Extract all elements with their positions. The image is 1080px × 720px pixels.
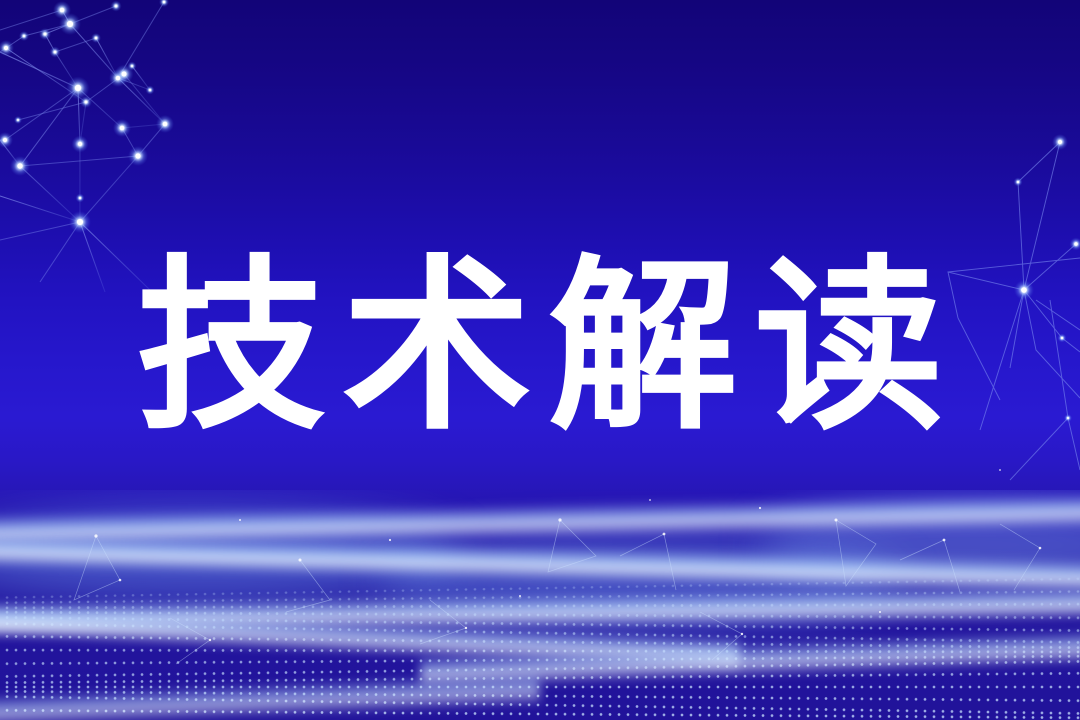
page-title: 技术解读	[0, 250, 1080, 446]
particle-wave-field	[0, 490, 1080, 720]
banner-canvas: 技术解读	[0, 0, 1080, 720]
